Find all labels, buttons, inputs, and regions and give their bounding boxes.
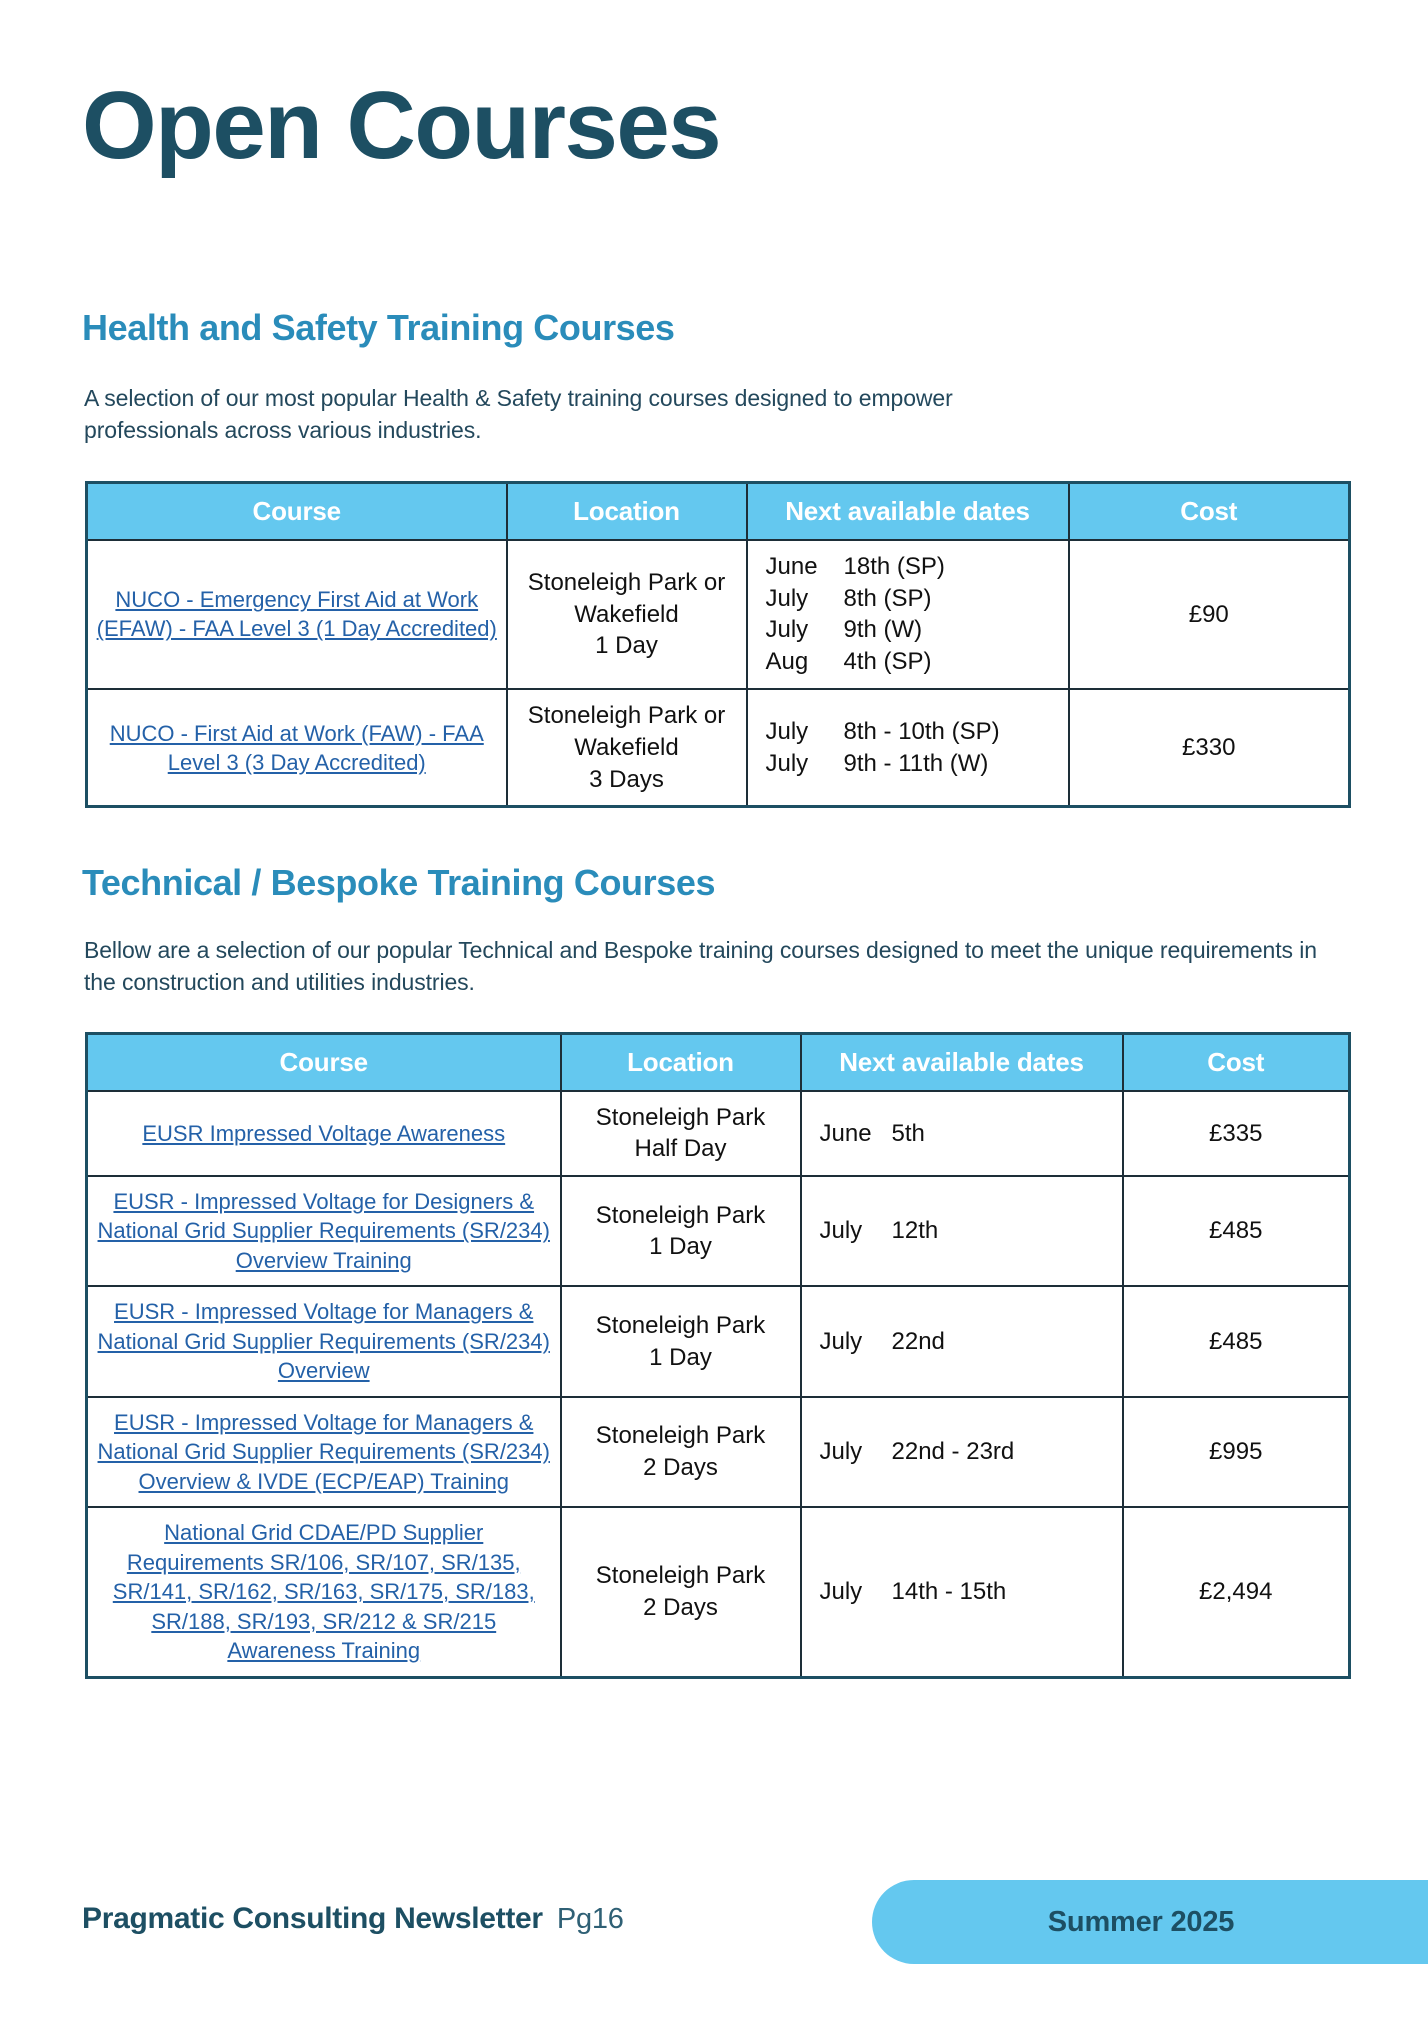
page-title: Open Courses (82, 76, 720, 177)
date-day: 8th - 10th (SP) (844, 716, 1000, 748)
location-text: Stoneleigh Park or Wakefield3 Days (528, 702, 725, 792)
date-month: June (766, 551, 844, 583)
dates-cell: June 5th (801, 1091, 1123, 1176)
cost-cell: £485 (1123, 1286, 1350, 1396)
location-text: Stoneleigh Park2 Days (596, 1562, 765, 1621)
section-intro-technical-bespoke: Bellow are a selection of our popular Te… (84, 935, 1354, 998)
column-header-next-available-dates: Next available dates (747, 483, 1069, 540)
date-day: 22nd - 23rd (892, 1436, 1015, 1468)
course-link[interactable]: NUCO - Emergency First Aid at Work (EFAW… (97, 587, 497, 641)
location-text: Stoneleigh Park1 Day (596, 1202, 765, 1261)
column-header-location: Location (507, 483, 747, 540)
cost-cell: £330 (1069, 689, 1350, 807)
section-heading-health-and-safety: Health and Safety Training Courses (82, 307, 675, 349)
cost-cell: £995 (1123, 1397, 1350, 1507)
course-cell: NUCO - First Aid at Work (FAW) - FAA Lev… (87, 689, 507, 807)
footer-brand: Pragmatic Consulting Newsletter (82, 1902, 543, 1936)
date-line: July 22nd (820, 1326, 1114, 1358)
location-cell: Stoneleigh Park2 Days (561, 1507, 801, 1677)
course-link[interactable]: NUCO - First Aid at Work (FAW) - FAA Lev… (110, 721, 484, 775)
date-line: July 9th - 11th (W) (766, 748, 1060, 780)
date-line: July 8th - 10th (SP) (766, 716, 1060, 748)
location-cell: Stoneleigh Park2 Days (561, 1397, 801, 1507)
date-line: July 12th (820, 1215, 1114, 1247)
location-cell: Stoneleigh ParkHalf Day (561, 1091, 801, 1176)
date-month: July (766, 583, 844, 615)
course-cell: NUCO - Emergency First Aid at Work (EFAW… (87, 540, 507, 690)
date-month: June (820, 1118, 892, 1150)
table-row: NUCO - First Aid at Work (FAW) - FAA Lev… (87, 689, 1350, 807)
date-day: 9th - 11th (W) (844, 748, 989, 780)
column-header-cost: Cost (1123, 1034, 1350, 1091)
date-month: July (820, 1215, 892, 1247)
date-month: July (820, 1326, 892, 1358)
date-day: 18th (SP) (844, 551, 945, 583)
column-header-location: Location (561, 1034, 801, 1091)
course-link[interactable]: EUSR Impressed Voltage Awareness (142, 1121, 505, 1146)
location-text: Stoneleigh Park1 Day (596, 1312, 765, 1371)
table-row: EUSR - Impressed Voltage for Designers &… (87, 1176, 1350, 1286)
date-line: July 22nd - 23rd (820, 1436, 1114, 1468)
date-line: July 8th (SP) (766, 583, 1060, 615)
footer-left: Pragmatic Consulting Newsletter Pg16 (82, 1902, 624, 1936)
course-cell: EUSR - Impressed Voltage for Managers & … (87, 1397, 561, 1507)
column-header-cost: Cost (1069, 483, 1350, 540)
cost-cell: £485 (1123, 1176, 1350, 1286)
cost-cell: £335 (1123, 1091, 1350, 1176)
date-line: June 5th (820, 1118, 1114, 1150)
date-month: July (820, 1436, 892, 1468)
course-cell: National Grid CDAE/PD Supplier Requireme… (87, 1507, 561, 1677)
footer-issue-pill: Summer 2025 (872, 1880, 1428, 1964)
date-line: July 9th (W) (766, 614, 1060, 646)
date-day: 12th (892, 1215, 939, 1247)
date-month: July (820, 1576, 892, 1608)
date-day: 14th - 15th (892, 1576, 1007, 1608)
date-month: July (766, 614, 844, 646)
column-header-next-available-dates: Next available dates (801, 1034, 1123, 1091)
table-header-row: Course Location Next available dates Cos… (87, 483, 1350, 540)
location-text: Stoneleigh ParkHalf Day (596, 1104, 765, 1163)
cost-cell: £2,494 (1123, 1507, 1350, 1677)
course-link[interactable]: EUSR - Impressed Voltage for Managers & … (98, 1410, 550, 1494)
date-month: Aug (766, 646, 844, 678)
date-month: July (766, 716, 844, 748)
location-text: Stoneleigh Park or Wakefield1 Day (528, 569, 725, 659)
location-cell: Stoneleigh Park or Wakefield1 Day (507, 540, 747, 690)
course-link[interactable]: EUSR - Impressed Voltage for Managers & … (98, 1299, 550, 1383)
table-row: EUSR - Impressed Voltage for Managers & … (87, 1397, 1350, 1507)
location-text: Stoneleigh Park2 Days (596, 1422, 765, 1481)
date-day: 9th (W) (844, 614, 923, 646)
table-row: National Grid CDAE/PD Supplier Requireme… (87, 1507, 1350, 1677)
course-cell: EUSR - Impressed Voltage for Managers & … (87, 1286, 561, 1396)
dates-cell: July 12th (801, 1176, 1123, 1286)
date-day: 8th (SP) (844, 583, 932, 615)
location-cell: Stoneleigh Park or Wakefield3 Days (507, 689, 747, 807)
table-row: EUSR - Impressed Voltage for Managers & … (87, 1286, 1350, 1396)
column-header-course: Course (87, 483, 507, 540)
cost-cell: £90 (1069, 540, 1350, 690)
section-intro-health-and-safety: A selection of our most popular Health &… (84, 383, 1044, 446)
table-header-row: Course Location Next available dates Cos… (87, 1034, 1350, 1091)
dates-cell: July 14th - 15th (801, 1507, 1123, 1677)
table-row: EUSR Impressed Voltage Awareness Stonele… (87, 1091, 1350, 1176)
date-day: 4th (SP) (844, 646, 932, 678)
table-row: NUCO - Emergency First Aid at Work (EFAW… (87, 540, 1350, 690)
health-and-safety-courses-table: Course Location Next available dates Cos… (85, 481, 1351, 808)
date-day: 22nd (892, 1326, 945, 1358)
dates-cell: June 18th (SP) July 8th (SP) July 9th (W… (747, 540, 1069, 690)
course-cell: EUSR - Impressed Voltage for Designers &… (87, 1176, 561, 1286)
column-header-course: Course (87, 1034, 561, 1091)
location-cell: Stoneleigh Park1 Day (561, 1176, 801, 1286)
location-cell: Stoneleigh Park1 Day (561, 1286, 801, 1396)
dates-cell: July 22nd - 23rd (801, 1397, 1123, 1507)
footer-issue-label: Summer 2025 (872, 1880, 1410, 1964)
date-line: June 18th (SP) (766, 551, 1060, 583)
course-link[interactable]: National Grid CDAE/PD Supplier Requireme… (113, 1520, 535, 1663)
newsletter-page: Open Courses Health and Safety Training … (0, 0, 1428, 2018)
date-day: 5th (892, 1118, 925, 1150)
course-link[interactable]: EUSR - Impressed Voltage for Designers &… (98, 1189, 550, 1273)
footer-page-number: Pg16 (557, 1903, 624, 1936)
dates-cell: July 22nd (801, 1286, 1123, 1396)
date-line: July 14th - 15th (820, 1576, 1114, 1608)
section-heading-technical-bespoke: Technical / Bespoke Training Courses (82, 862, 715, 904)
date-line: Aug 4th (SP) (766, 646, 1060, 678)
dates-cell: July 8th - 10th (SP) July 9th - 11th (W) (747, 689, 1069, 807)
course-cell: EUSR Impressed Voltage Awareness (87, 1091, 561, 1176)
technical-bespoke-courses-table: Course Location Next available dates Cos… (85, 1032, 1351, 1679)
date-month: July (766, 748, 844, 780)
